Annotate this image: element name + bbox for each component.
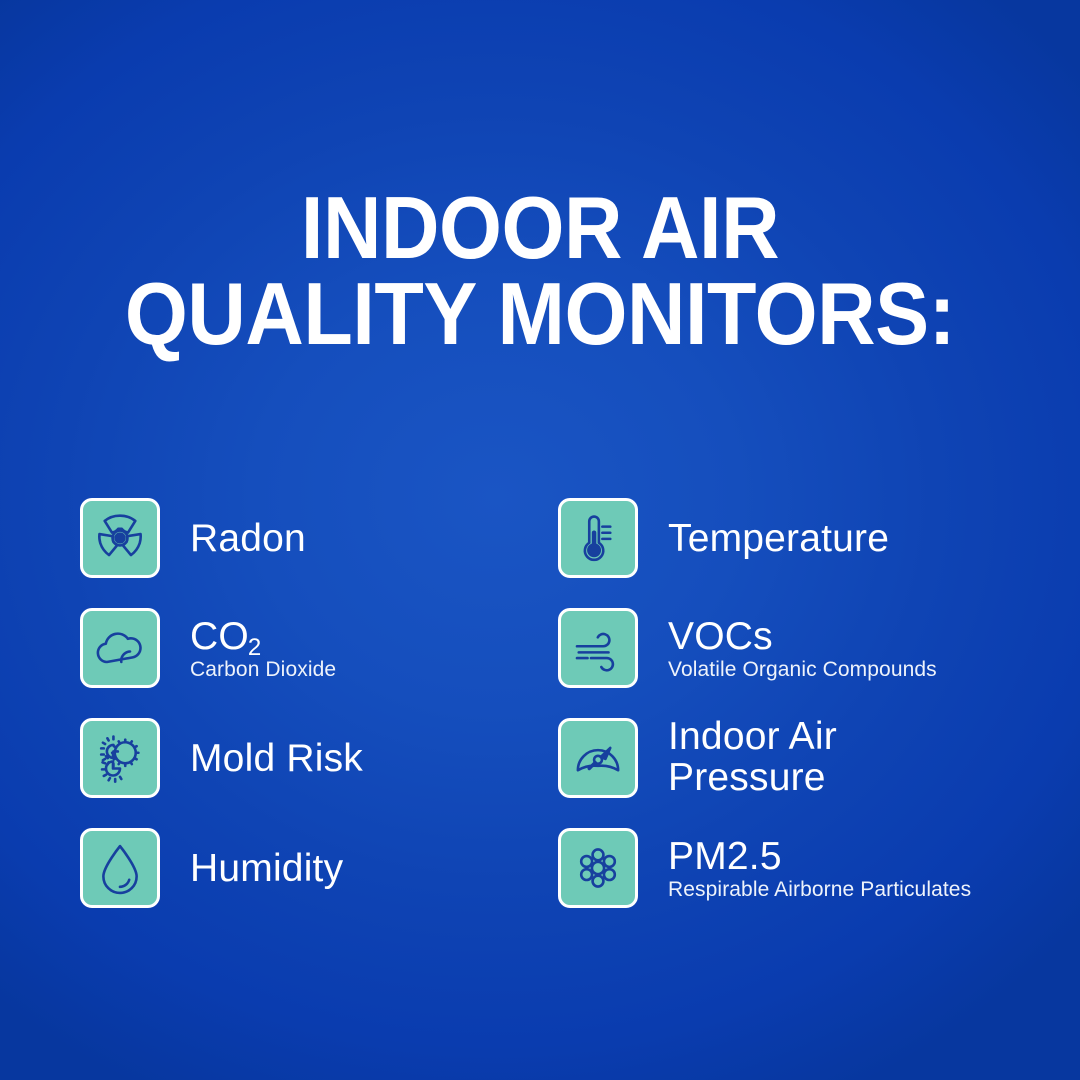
metric-name: Temperature (668, 519, 889, 558)
metric-name-subscript: 2 (248, 634, 262, 661)
metric-name: Mold Risk (190, 739, 363, 778)
mold-spores-icon (92, 730, 148, 786)
particulates-icon (570, 840, 626, 896)
pressure-gauge-icon (570, 730, 626, 786)
metric-temperature[interactable]: Temperature (558, 483, 1025, 593)
metric-co2[interactable]: CO2 Carbon Dioxide (80, 593, 558, 703)
thermometer-icon-tile (558, 498, 638, 578)
radiation-icon (92, 510, 148, 566)
radiation-icon-tile (80, 498, 160, 578)
metric-labels: PM2.5 Respirable Airborne Particulates (668, 837, 971, 900)
metric-name: Indoor AirPressure (668, 717, 837, 798)
metric-labels: VOCs Volatile Organic Compounds (668, 617, 937, 680)
metric-name: Radon (190, 519, 306, 558)
page-title: INDOOR AIR QUALITY MONITORS: (0, 186, 1080, 355)
metric-pm25[interactable]: PM2.5 Respirable Airborne Particulates (558, 813, 1025, 923)
wind-icon (570, 620, 626, 676)
cloud-icon-tile (80, 608, 160, 688)
metric-name-line2: Pressure (668, 756, 826, 799)
metric-labels: Radon (190, 519, 306, 558)
metric-vocs[interactable]: VOCs Volatile Organic Compounds (558, 593, 1025, 703)
metric-labels: Indoor AirPressure (668, 717, 837, 798)
metric-radon[interactable]: Radon (80, 483, 558, 593)
metric-name: VOCs (668, 617, 937, 656)
title-line-2: QUALITY MONITORS: (43, 272, 1037, 356)
metric-subtitle: Respirable Airborne Particulates (668, 879, 971, 900)
metrics-grid: Radon Temperature (80, 483, 1025, 923)
metric-name: CO2 (190, 617, 336, 656)
pressure-gauge-icon-tile (558, 718, 638, 798)
metric-labels: Humidity (190, 849, 343, 888)
particulates-icon-tile (558, 828, 638, 908)
mold-spores-icon-tile (80, 718, 160, 798)
metric-humidity[interactable]: Humidity (80, 813, 558, 923)
metric-labels: Mold Risk (190, 739, 363, 778)
wind-icon-tile (558, 608, 638, 688)
metric-name-line1: Indoor Air (668, 715, 837, 758)
metric-subtitle: Volatile Organic Compounds (668, 659, 937, 680)
water-droplet-icon (92, 840, 148, 896)
metric-name: Humidity (190, 849, 343, 888)
water-droplet-icon-tile (80, 828, 160, 908)
metric-mold-risk[interactable]: Mold Risk (80, 703, 558, 813)
cloud-icon (92, 620, 148, 676)
metric-labels: CO2 Carbon Dioxide (190, 617, 336, 680)
thermometer-icon (570, 510, 626, 566)
infographic-poster: INDOOR AIR QUALITY MONITORS: Radon (0, 0, 1080, 1080)
metric-labels: Temperature (668, 519, 889, 558)
metric-subtitle: Carbon Dioxide (190, 659, 336, 680)
metric-name: PM2.5 (668, 837, 971, 876)
title-line-1: INDOOR AIR (43, 186, 1037, 270)
metric-indoor-air-pressure[interactable]: Indoor AirPressure (558, 703, 1025, 813)
